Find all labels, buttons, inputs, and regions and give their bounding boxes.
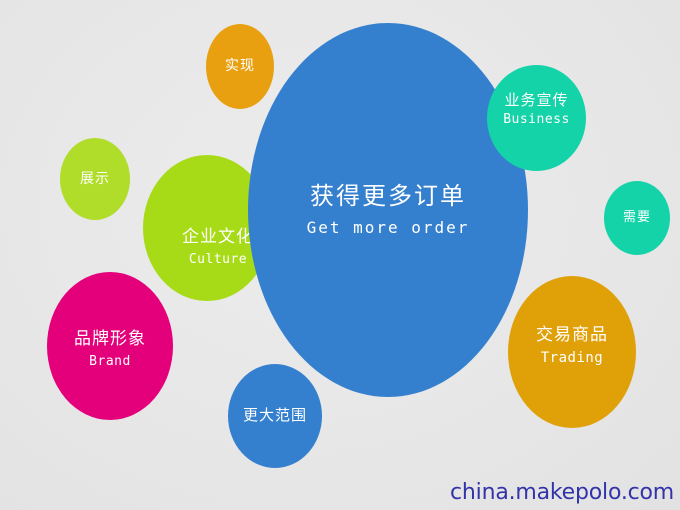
bubble-scope-label-cn: 更大范围 <box>243 407 307 424</box>
bubble-need-label-cn: 需要 <box>623 211 651 226</box>
bubble-main-label-en: Get more order <box>307 219 470 237</box>
bubble-display[interactable]: 展示 <box>60 138 130 220</box>
bubble-business-text: 业务宣传 Business <box>503 92 570 127</box>
bubble-business[interactable]: 业务宣传 Business <box>487 65 586 171</box>
bubble-main-label-cn: 获得更多订单 <box>310 183 466 211</box>
bubble-realize[interactable]: 实现 <box>206 24 274 109</box>
bubble-brand-label-cn: 品牌形象 <box>74 330 146 350</box>
bubble-main-goal[interactable]: 获得更多订单 Get more order <box>248 23 528 397</box>
bubble-diagram-canvas: 企业文化 Culture 实现 展示 需要 品牌形象 Brand 更大范围 获得… <box>0 0 680 510</box>
bubble-trading-label-cn: 交易商品 <box>536 326 608 346</box>
bubble-display-label-cn: 展示 <box>80 171 110 187</box>
bubble-culture-label-en: Culture <box>182 253 254 268</box>
watermark: china.makepolo.com <box>450 480 674 505</box>
bubble-trading-text: 交易商品 Trading <box>536 326 608 366</box>
bubble-scope[interactable]: 更大范围 <box>228 364 322 468</box>
bubble-realize-label-cn: 实现 <box>225 58 255 74</box>
bubble-business-label-en: Business <box>503 113 570 128</box>
bubble-brand[interactable]: 品牌形象 Brand <box>47 272 173 420</box>
bubble-brand-text: 品牌形象 Brand <box>74 330 146 369</box>
bubble-trading[interactable]: 交易商品 Trading <box>508 276 636 428</box>
bubble-brand-label-en: Brand <box>74 355 146 370</box>
bubble-business-label-cn: 业务宣传 <box>503 92 570 109</box>
bubble-culture-label-cn: 企业文化 <box>182 228 254 248</box>
bubble-trading-label-en: Trading <box>536 350 608 366</box>
bubble-need[interactable]: 需要 <box>604 181 670 255</box>
bubble-culture-text: 企业文化 Culture <box>182 228 254 267</box>
